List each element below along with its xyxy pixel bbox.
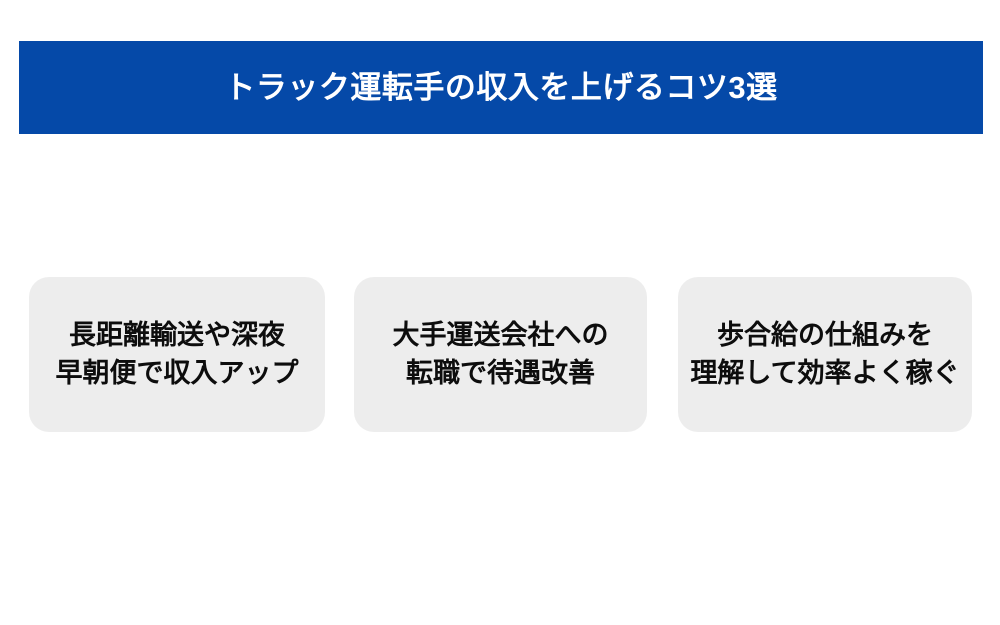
slide-canvas: トラック運転手の収入を上げるコツ3選 長距離輸送や深夜 早朝便で収入アップ 大手… <box>0 0 1000 625</box>
tip-card-3-line-2: 理解して効率よく稼ぐ <box>690 355 959 392</box>
tips-card-row: 長距離輸送や深夜 早朝便で収入アップ 大手運送会社への 転職で待遇改善 歩合給の… <box>29 277 972 432</box>
tip-card-2-line-1: 大手運送会社への <box>393 317 609 354</box>
tip-card-3-line-1: 歩合給の仕組みを <box>717 317 933 354</box>
title-banner: トラック運転手の収入を上げるコツ3選 <box>19 41 983 134</box>
tip-card-1-line-1: 長距離輸送や深夜 <box>69 317 285 354</box>
tip-card-1: 長距離輸送や深夜 早朝便で収入アップ <box>29 277 325 432</box>
tip-card-1-line-2: 早朝便で収入アップ <box>56 355 299 392</box>
tip-card-2: 大手運送会社への 転職で待遇改善 <box>354 277 647 432</box>
tip-card-3: 歩合給の仕組みを 理解して効率よく稼ぐ <box>678 277 972 432</box>
tip-card-2-line-2: 転職で待遇改善 <box>406 355 595 392</box>
page-title: トラック運転手の収入を上げるコツ3選 <box>224 72 777 103</box>
